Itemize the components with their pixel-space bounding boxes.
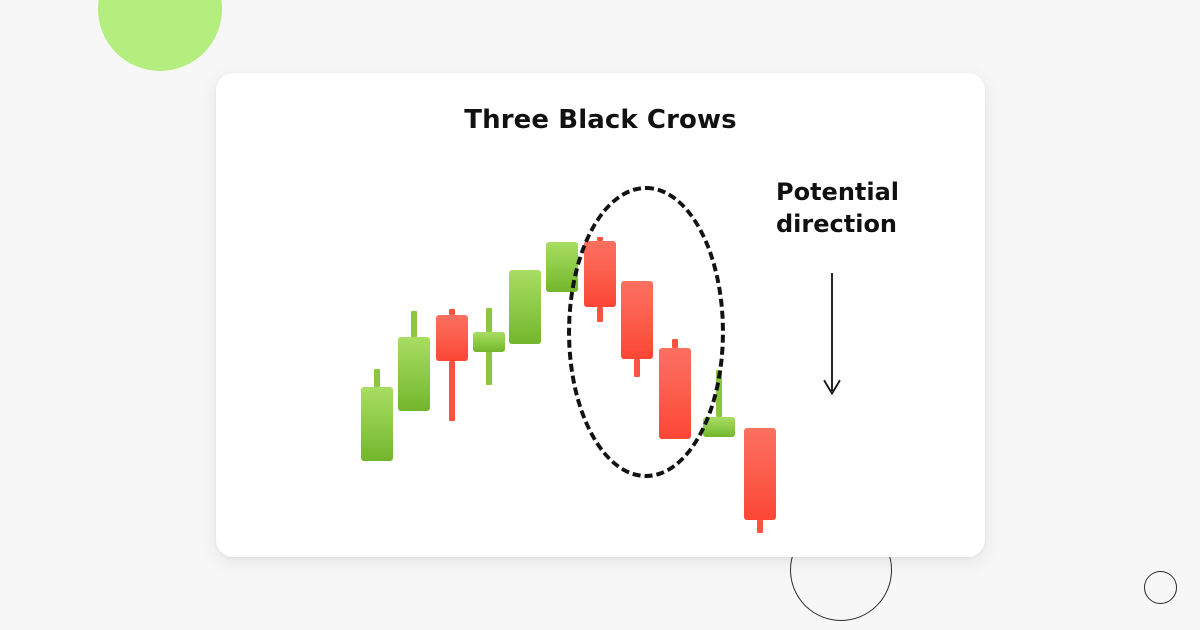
candle-upper-wick (486, 308, 492, 332)
page-root: Three Black Crows Potential direction (0, 0, 1200, 630)
candlestick-plot (216, 73, 985, 557)
candle-3-down (436, 309, 468, 421)
candle-upper-wick (374, 369, 380, 387)
candle-lower-wick (449, 361, 455, 421)
candle-body (436, 315, 468, 361)
pattern-highlight-ellipse (567, 186, 725, 478)
candle-1-up (361, 369, 393, 461)
candle-lower-wick (486, 352, 492, 385)
candle-body (744, 428, 776, 520)
outline-circle-decoration-small (1144, 571, 1177, 604)
candle-body (473, 332, 505, 352)
candle-4-up (473, 308, 505, 385)
arrow-down-icon (820, 273, 844, 399)
green-circle-decoration (98, 0, 222, 71)
candle-11-down (744, 428, 776, 533)
candle-body (398, 337, 430, 411)
candle-lower-wick (757, 520, 763, 533)
candle-5-up (509, 270, 541, 344)
candle-2-up (398, 311, 430, 411)
potential-direction-annotation: Potential direction (776, 176, 976, 240)
annotation-line-2: direction (776, 208, 976, 240)
candle-body (509, 270, 541, 344)
annotation-line-1: Potential (776, 176, 976, 208)
candle-upper-wick (411, 311, 417, 337)
candle-body (361, 387, 393, 461)
chart-card: Three Black Crows Potential direction (216, 73, 985, 557)
